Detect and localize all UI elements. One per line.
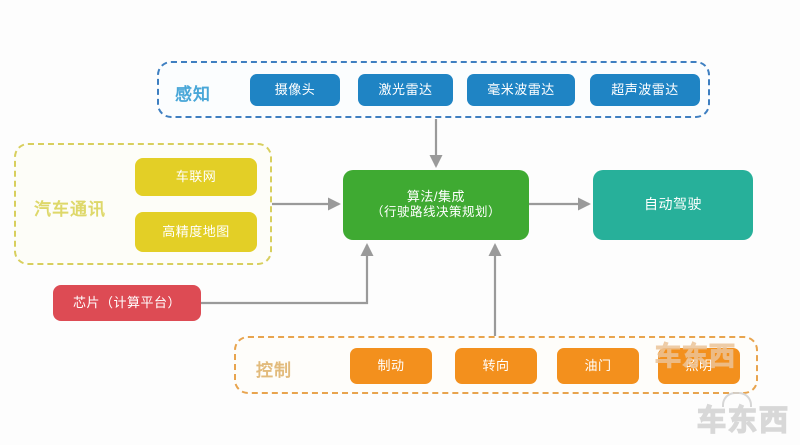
- node-autonomous-driving[interactable]: 自动驾驶: [593, 170, 753, 240]
- node-millimeter-wave-radar[interactable]: 毫米波雷达: [467, 74, 575, 106]
- node-camera[interactable]: 摄像头: [250, 74, 340, 106]
- node-high-precision-map-label: 高精度地图: [162, 224, 230, 240]
- node-algorithm-integration-line1: 算法/集成: [371, 189, 501, 205]
- node-braking-label: 制动: [377, 358, 404, 374]
- node-chip-computing-platform-label: 芯片（计算平台）: [73, 295, 181, 311]
- node-internet-of-vehicles-label: 车联网: [176, 169, 217, 185]
- node-internet-of-vehicles[interactable]: 车联网: [135, 158, 257, 196]
- watermark-logo: 车东西: [697, 397, 790, 439]
- node-millimeter-wave-radar-label: 毫米波雷达: [487, 82, 555, 98]
- group-vehicle-communication-label: 汽车通讯: [34, 195, 106, 220]
- node-braking[interactable]: 制动: [350, 348, 432, 384]
- node-algorithm-integration[interactable]: 算法/集成 （行驶路线决策规划）: [343, 170, 529, 240]
- node-high-precision-map[interactable]: 高精度地图: [135, 212, 257, 252]
- diagram-canvas: 感知 摄像头 激光雷达 毫米波雷达 超声波雷达 汽车通讯 车联网 高精度地图 算…: [0, 0, 800, 445]
- node-ultrasonic-radar-label: 超声波雷达: [611, 82, 679, 98]
- node-algorithm-integration-line2: （行驶路线决策规划）: [371, 205, 501, 221]
- node-lidar[interactable]: 激光雷达: [358, 74, 453, 106]
- node-throttle[interactable]: 油门: [557, 348, 639, 384]
- node-camera-label: 摄像头: [275, 82, 316, 98]
- group-perception-label: 感知: [175, 80, 211, 105]
- node-throttle-label: 油门: [584, 358, 611, 374]
- node-steering-label: 转向: [482, 358, 509, 374]
- node-ultrasonic-radar[interactable]: 超声波雷达: [590, 74, 700, 106]
- group-control-label: 控制: [256, 356, 292, 381]
- node-autonomous-driving-label: 自动驾驶: [644, 196, 702, 214]
- node-chip-computing-platform[interactable]: 芯片（计算平台）: [53, 285, 201, 321]
- node-steering[interactable]: 转向: [455, 348, 537, 384]
- watermark-ghost: 车东西: [655, 336, 736, 373]
- node-lidar-label: 激光雷达: [378, 82, 432, 98]
